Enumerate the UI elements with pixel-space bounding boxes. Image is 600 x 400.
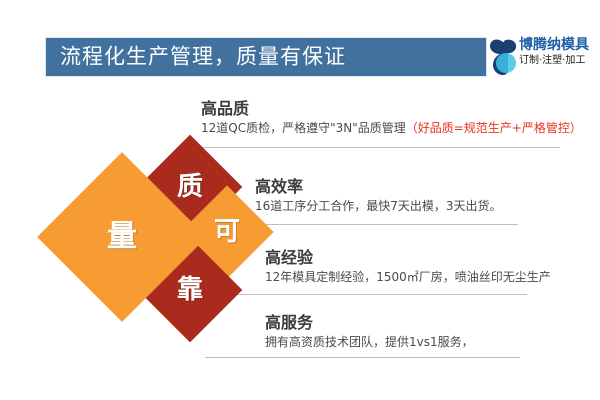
logo-company-name: 博腾纳模具 [519,37,597,54]
feature-block-service: 高服务 拥有高资质技术团队，提供1vs1服务， [265,313,474,351]
feature-desc-main: 12道QC质检，严格遵守"3N"品质管理 [201,121,406,135]
divider-2 [253,224,518,225]
feature-desc-accent: （好品质=规范生产+严格管控） [406,121,582,135]
feature-desc-main: 16道工序分工合作，最快7天出模，3天出货。 [255,199,502,213]
feature-desc: 12年模具定制经验，1500㎡厂房，喷油丝印无尘生产 [265,268,551,286]
diamond-liang-label: 量 [107,222,137,252]
logo-tagline: 订制·注塑·加工 [519,54,597,68]
header-bar: 流程化生产管理，质量有保证 [45,37,487,77]
diamond-zhi-label: 质 [177,174,203,200]
feature-desc: 12道QC质检，严格遵守"3N"品质管理（好品质=规范生产+严格管控） [201,119,582,137]
feature-desc-main: 拥有高资质技术团队，提供1vs1服务， [265,335,474,349]
feature-desc-main: 12年模具定制经验，1500㎡厂房，喷油丝印无尘生产 [265,270,551,284]
divider-1 [190,147,560,148]
feature-title: 高效率 [255,177,502,197]
slide-canvas: 流程化生产管理，质量有保证 博腾纳模具 订制·注塑·加工 量 质 可 靠 高品质… [0,0,600,400]
divider-4 [205,357,520,358]
feature-block-efficiency: 高效率 16道工序分工合作，最快7天出模，3天出货。 [255,177,502,215]
feature-title: 高经验 [265,248,551,268]
diamond-ke-label: 可 [214,219,240,245]
feature-title: 高服务 [265,313,474,333]
brand-logo: 博腾纳模具 订制·注塑·加工 [489,35,597,80]
diamond-kao-label: 靠 [177,277,203,303]
feature-title: 高品质 [201,99,582,119]
feature-block-quality: 高品质 12道QC质检，严格遵守"3N"品质管理（好品质=规范生产+严格管控） [201,99,582,137]
logo-text: 博腾纳模具 订制·注塑·加工 [519,37,597,68]
divider-3 [222,294,527,295]
page-title: 流程化生产管理，质量有保证 [60,47,346,68]
feature-desc: 拥有高资质技术团队，提供1vs1服务， [265,333,474,351]
butterfly-logo-icon [489,38,519,76]
feature-desc: 16道工序分工合作，最快7天出模，3天出货。 [255,197,502,215]
feature-block-experience: 高经验 12年模具定制经验，1500㎡厂房，喷油丝印无尘生产 [265,248,551,286]
